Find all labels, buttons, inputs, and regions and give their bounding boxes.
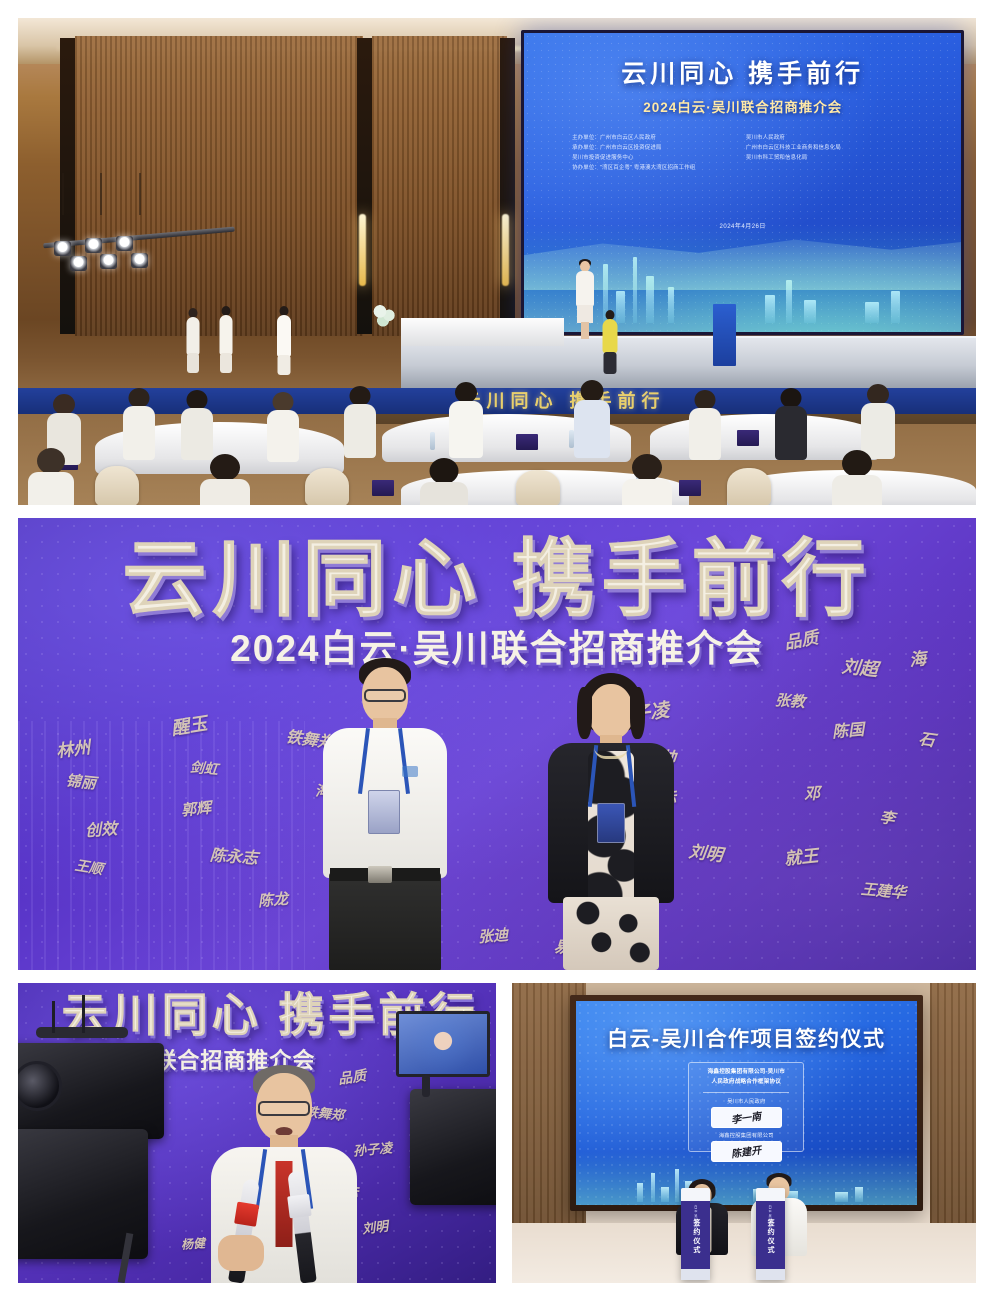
- seated-attendee-front: [28, 448, 74, 505]
- roll-up-banner: [713, 304, 736, 366]
- camera-antenna-left-2: [82, 995, 85, 1033]
- host-legs: [581, 322, 589, 339]
- camera-monitor: [396, 1011, 490, 1077]
- male-badge: [368, 790, 400, 834]
- signing-led-screen: 白云-吴川合作项目签约仪式 海鑫控股集团有限公司-吴川市 人民政府战略合作框架协…: [576, 1001, 917, 1205]
- name-tent-card: [372, 480, 394, 496]
- female-skirt: [563, 897, 659, 970]
- male-trousers: [329, 872, 441, 970]
- male-glasses: [364, 689, 406, 702]
- female-head: [589, 684, 633, 739]
- male-chest-logo: [402, 766, 418, 777]
- wall-light-2: [502, 214, 509, 286]
- organizer-row: 协办单位："湾区百企粤" 粤港澳大湾区招商工作组: [572, 163, 913, 173]
- stage-lamp-6: [131, 253, 148, 268]
- stage-light-truss: [43, 213, 235, 291]
- agreement-card: 海鑫控股集团有限公司-吴川市 人民政府战略合作框架协议 吴川市人民政府 李一南 …: [688, 1062, 804, 1152]
- mic-flag-right: [287, 1194, 312, 1219]
- agreement-divider: [703, 1092, 789, 1093]
- panel-conference-hall: 云川同心 携手前行 2024白云·吴川联合招商推介会 主办单位：广州市白云区人民…: [18, 18, 976, 505]
- mic-hand: [218, 1235, 264, 1271]
- event-host: [574, 261, 596, 339]
- stage-lamp-5: [100, 254, 117, 269]
- head-table: [401, 318, 564, 346]
- monitor-preview: [399, 1014, 487, 1074]
- stage-lamp-3: [116, 236, 133, 251]
- banquet-chair: [727, 468, 771, 505]
- backdrop-bar-graphic: [18, 721, 305, 970]
- party-a-signature: 李一南: [730, 1108, 762, 1127]
- host-body: [576, 271, 594, 307]
- banquet-chair: [305, 468, 349, 505]
- truss-rod-3: [139, 173, 141, 215]
- podium-label-left: 签约仪式: [691, 1219, 701, 1255]
- banquet-chair: [516, 470, 560, 505]
- floral-arrangement: [368, 301, 398, 327]
- photo-collage: 云川同心 携手前行 2024白云·吴川联合招商推介会 主办单位：广州市白云区人民…: [0, 0, 1000, 1300]
- party-b-signature-box: 陈建开: [711, 1141, 782, 1162]
- standing-staff: [219, 306, 233, 372]
- wall-recess-1: [357, 38, 372, 334]
- attendee-female: [545, 673, 677, 970]
- agreement-line-1: 海鑫控股集团有限公司-吴川市: [695, 1068, 797, 1078]
- signing-stage-floor: [512, 1223, 976, 1283]
- mic-flag-left: [234, 1202, 259, 1227]
- backdrop-subtitle: 2024白云·吴川联合招商推介会: [18, 618, 976, 672]
- party-b-label: 海鑫控股集团有限公司: [695, 1131, 797, 1139]
- backdrop-main-title: 云川同心 携手前行: [18, 518, 976, 633]
- name-tent-card: [679, 480, 701, 496]
- screen-main-title: 云川同心 携手前行: [524, 54, 962, 90]
- screen-organizer-list: 主办单位：广州市白云区人民政府 吴川市人民政府 承办单位：广州市白云区投资促进局…: [572, 133, 913, 173]
- seated-attendee-front: [200, 454, 250, 505]
- party-b-signature: 陈建开: [730, 1142, 762, 1161]
- interviewee-glasses: [258, 1101, 310, 1116]
- panel-signature-backdrop: 林州 锦丽 创效 王顺 醒玉 剑虹 郭辉 陈永志 陈龙 铁舞郑 海波 孙子凌 帅…: [18, 518, 976, 970]
- host-skirt: [577, 305, 593, 323]
- male-belt-buckle: [368, 866, 392, 883]
- stage-lamp-4: [70, 256, 87, 271]
- seated-attendee: [344, 386, 376, 458]
- name-tent-card: [737, 430, 759, 446]
- attendee-male: [320, 658, 450, 970]
- stage-lamp-2: [85, 238, 102, 253]
- stage-lamp-1: [54, 241, 71, 256]
- female-hair-side-l: [577, 687, 592, 739]
- seated-attendee: [449, 382, 483, 458]
- panel-signing-ceremony: 白云-吴川合作项目签约仪式 海鑫控股集团有限公司-吴川市 人民政府战略合作框架协…: [512, 983, 976, 1283]
- female-hair-side-r: [630, 687, 645, 739]
- organizer-row: 主办单位：广州市白云区人民政府 吴川市人民政府: [572, 133, 913, 143]
- screen-event-date: 2024年4月26日: [524, 221, 962, 230]
- banquet-chair: [95, 466, 139, 505]
- screen-subtitle: 2024白云·吴川联合招商推介会: [524, 96, 962, 116]
- wall-light-1: [359, 214, 366, 286]
- signing-podium-right: 白云·吴川合作 签约仪式: [756, 1188, 785, 1280]
- seated-attendee: [861, 384, 895, 458]
- truss-rod-2: [100, 173, 102, 215]
- standing-cameraman: [602, 310, 618, 372]
- panel-media-interview: 醒玉 锦丽 创效 王顺 品质 铁舞郑 孙子凌 陈锦标 刘明 高 杨健 云川同心 …: [18, 983, 496, 1283]
- seated-attendee: [574, 380, 610, 458]
- seated-attendee: [123, 388, 155, 460]
- party-a-label: 吴川市人民政府: [695, 1097, 797, 1105]
- seated-attendee: [267, 392, 299, 462]
- water-bottle: [430, 432, 435, 450]
- truss-bar: [43, 226, 234, 248]
- seated-attendee-front: [832, 450, 882, 505]
- name-tent-card: [516, 434, 538, 450]
- agreement-line-2: 人民政府战略合作框架协议: [695, 1078, 797, 1088]
- camera-monitor-arm: [422, 1075, 430, 1097]
- wall-recess-2: [500, 38, 515, 334]
- camera-antenna-left: [52, 1001, 55, 1033]
- truss-rod-1: [62, 173, 64, 215]
- podium-label-right: 签约仪式: [765, 1219, 775, 1255]
- tv-camera-right: [410, 1089, 496, 1205]
- standing-staff: [186, 308, 200, 372]
- organizer-row: 吴川市投资促进服务中心 吴川市科工贸和信息化局: [572, 153, 913, 163]
- seated-attendee: [775, 388, 807, 460]
- wood-slat-wall-left: [75, 36, 362, 336]
- seated-attendee-front: [420, 458, 468, 505]
- seated-attendee: [689, 390, 721, 460]
- organizer-row: 承办单位：广州市白云区投资促进局 广州市白云区科技工业商务和信息化局: [572, 143, 913, 153]
- signing-podium-left: 白云·吴川合作 签约仪式: [681, 1188, 710, 1280]
- signing-screen-title: 白云-吴川合作项目签约仪式: [576, 1023, 917, 1053]
- signing-led-frame: 白云-吴川合作项目签约仪式 海鑫控股集团有限公司-吴川市 人民政府战略合作框架协…: [570, 995, 923, 1211]
- seated-attendee-front: [622, 454, 672, 505]
- party-a-signature-box: 李一南: [711, 1107, 782, 1128]
- seated-attendee: [181, 390, 213, 460]
- standing-staff: [277, 306, 292, 374]
- wood-slat-wall-mid: [372, 36, 506, 336]
- female-badge: [597, 803, 625, 843]
- signing-wood-wall-right: [930, 983, 976, 1229]
